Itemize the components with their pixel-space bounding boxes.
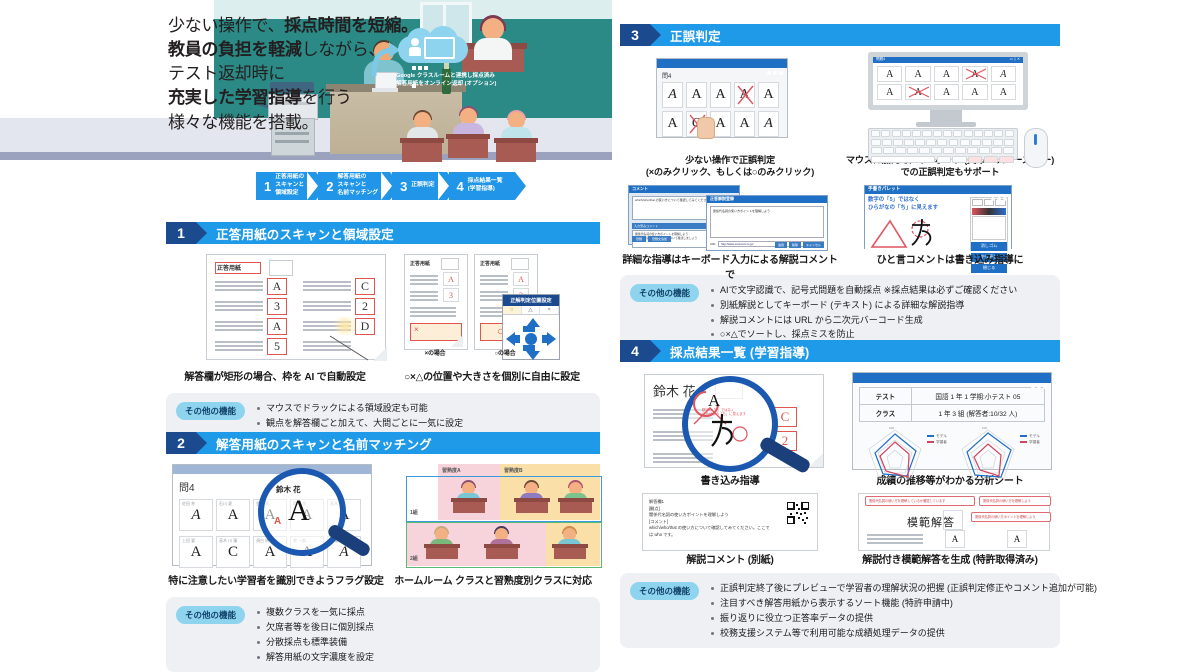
infographic-page: Google クラスルームと連携し採点済み解答用紙をオンライン返却 (オプション… — [0, 0, 1200, 630]
other-feature-item: 解説コメントには URL から二次元バーコード生成 — [709, 313, 1017, 328]
table-key: テスト — [860, 388, 912, 405]
answer-cell[interactable]: 高木 川 蓮C — [216, 536, 250, 568]
answer-sheet-x-case: 正答用紙 A 3 × — [404, 254, 468, 350]
color-swatch-row[interactable] — [972, 208, 1006, 215]
other-feature-item: 注目すべき解答用紙から表示するソート機能 (特許申請中) — [709, 596, 1097, 611]
stamp-list[interactable] — [972, 216, 1006, 240]
window-title-bar — [173, 465, 371, 474]
section-1-number: 1 — [166, 222, 196, 244]
cell-glyph: A — [1000, 69, 1006, 80]
paper-line-5: は who です。 — [649, 532, 779, 539]
radar-charts: 100 モデル 学習者 — [859, 422, 1045, 482]
answer-box: 3 — [267, 298, 287, 315]
section-3: 3 正誤判定 問4 A A A A A — [620, 24, 1060, 350]
loupe-glyph: A — [288, 494, 310, 528]
delete-button[interactable]: 削除 — [789, 242, 801, 248]
answer-cell[interactable]: 石川 夏A — [216, 499, 250, 531]
back-teacher-figure — [470, 18, 516, 70]
table-row: テスト 国語 1 年 1 学期:小テスト 05 — [860, 388, 1045, 405]
cell-name: 佐田 冬 — [182, 501, 195, 507]
judgement-cell[interactable]: A — [662, 111, 683, 137]
student-icon — [484, 526, 520, 560]
student-icon — [451, 480, 487, 514]
headline-l4b: を行う — [302, 88, 352, 107]
annotation-bubble: 関係代名詞の使い方を理解しているか確認しています — [865, 496, 975, 506]
monitor-window-title: 問題4 — [876, 57, 885, 62]
section-3-caption-left-1: 少ない操作で正誤判定 — [620, 154, 840, 166]
monitor-cell[interactable]: A — [991, 66, 1016, 82]
svg-text:100: 100 — [889, 426, 894, 430]
monitor-cell[interactable]: A — [934, 66, 959, 82]
student-icon — [514, 480, 550, 514]
panel-tab-circle[interactable]: ○ — [503, 306, 522, 314]
judgement-cell-wrong[interactable]: A — [734, 82, 755, 108]
cell-glyph: A — [668, 87, 677, 103]
palette-canvas[interactable]: 数字の「5」ではなく ひらがなの「ち」に見えます — [868, 197, 967, 251]
section-4-header: 4 採点結果一覧 (学習指導) — [620, 340, 1060, 362]
magnifier-lens: 鈴木 花 A A — [258, 468, 346, 556]
other-feature-item: 観点を解答欄ごと加えて、大問ごとに一気に設定 — [255, 416, 463, 431]
other-features-list: 複数クラスを一気に採点 欠席者等を後日に個別採点 分散採点も標準装備 解答用紙の… — [255, 605, 590, 664]
panel-title: 正解判定位置設定 — [503, 295, 559, 306]
cell-glyph: A — [943, 87, 950, 98]
handwriting-palette-window[interactable]: 手書きパレット 数字の「5」ではなく ひらがなの「ち」に見えます — [864, 185, 1012, 249]
comment-add-button[interactable]: 登録文追加 — [648, 236, 671, 242]
headline-l4a: 充実した学習指導 — [168, 88, 302, 107]
grading-window[interactable]: 問4 A A A A A A C — [656, 58, 788, 138]
student-icon — [552, 526, 588, 560]
headline-l5: 様々な機能を搭載。 — [168, 113, 318, 132]
window-title-bar: コメント — [629, 186, 739, 193]
section-1-title: 正答用紙のスキャンと領域設定 — [196, 222, 600, 244]
other-features-tag: その他の機能 — [176, 606, 245, 624]
judgement-cell[interactable]: A — [686, 82, 707, 108]
question-label: 問4 — [662, 71, 782, 80]
answer-box: A — [267, 318, 287, 335]
class-grid: 習熟度A 習熟度B 1組 2組 — [406, 464, 600, 566]
detail-window-title: 正答解説登録 — [710, 196, 734, 202]
radar-chart: 100 — [864, 426, 926, 482]
section-1-caption-left: 解答欄が矩形の場合、枠を AI で自動設定 — [166, 368, 384, 383]
monitor-row-2: A A A A A — [877, 84, 1019, 100]
paper-line-4: which/who/that の使い方について確認してみてください。ここで — [649, 525, 779, 532]
section-3-window-caption-right: ひと言コメントは書き込み指導に — [840, 251, 1060, 266]
cell-glyph: A — [886, 87, 893, 98]
mouse-illustration — [1024, 128, 1048, 168]
hero-illustration: Google クラスルームと連携し採点済み解答用紙をオンライン返却 (オプション… — [0, 0, 612, 205]
section-4-number: 4 — [620, 340, 650, 362]
loupe-note-2: ひらがなの「ち」に見えます — [702, 412, 746, 416]
palette-eraser-button[interactable]: 消しゴム — [971, 242, 1007, 251]
section-3-window-caption-left: 詳細な指導はキーボード入力による解説コメントで — [620, 251, 840, 281]
other-feature-item: 別紙解説としてキーボード (テキスト) による詳細な解説指導 — [709, 298, 1017, 313]
section-1-header: 1 正答用紙のスキャンと領域設定 — [166, 222, 600, 244]
left-column: Google クラスルームと連携し採点済み解答用紙をオンライン返却 (オプション… — [0, 0, 612, 630]
cancel-button[interactable]: キャンセル — [803, 242, 824, 248]
pointer-line — [316, 332, 370, 362]
table-key: クラス — [860, 405, 912, 422]
tool-button[interactable] — [972, 199, 983, 206]
monitor-cell[interactable]: A — [877, 66, 902, 82]
annotation-bubble: 関係代名詞の使い方を理解しよう — [979, 496, 1051, 506]
monitor-cell[interactable]: A — [991, 84, 1016, 100]
center-dot-icon[interactable] — [525, 333, 537, 345]
other-feature-item: 正誤判定終了後にプレビューで学習者の理解状況の把握 (正誤判定修正やコメント追加… — [709, 581, 1097, 596]
monitor-row-1: A A A A A — [877, 66, 1019, 82]
section-2-caption-left: 特に注意したい学習者を識別できようフラグ設定 — [166, 572, 386, 587]
cell-name: 石川 夏 — [219, 501, 232, 507]
cell-glyph: A — [715, 87, 725, 103]
window-title-bar: 手書きパレット — [865, 186, 1011, 194]
sheet-label: 正答用紙 — [217, 263, 241, 272]
apply-button[interactable]: 適用 — [775, 242, 787, 248]
explanation-comment-paper: 解答欄1 [観点] 関係代名詞の使い方ポイントを理解しよう [コメント] whi… — [642, 493, 818, 551]
handwriting-strokes — [868, 215, 964, 249]
cell-glyph: A — [764, 116, 773, 132]
judgement-cell[interactable]: A — [758, 111, 779, 137]
explanation-register-window[interactable]: 正答解説登録 関係代名詞の使い方ポイントを理解しよう URL http://ww… — [706, 195, 828, 251]
flow-step-3-label: 正誤判定 — [411, 182, 434, 190]
window-title-bar — [657, 59, 787, 68]
other-features-list: AIで文字認識で、記号式問題を自動採点 ※採点結果は必ずご確認ください 別紙解説… — [709, 283, 1017, 342]
cell-name: 高木 川 蓮 — [219, 538, 237, 544]
other-feature-item: 複数クラスを一気に採点 — [255, 605, 436, 620]
annotation-bubble: 関係代名詞の使い方ポイントを理解しよう — [971, 512, 1051, 522]
other-features-tag: その他の機能 — [176, 402, 245, 420]
cell-glyph: A — [715, 116, 725, 132]
other-feature-item: 欠席者等を後日に個別採点 — [255, 620, 436, 635]
legend-item: 学習者 — [927, 440, 947, 446]
section-3-number: 3 — [620, 24, 650, 46]
arrow-right-icon[interactable] — [547, 332, 556, 346]
hero-headline: 少ない操作で、採点時間を短縮。 教員の負担を軽減しながら、 テスト返却時に 充実… — [168, 14, 418, 135]
section-2-title: 解答用紙のスキャンと名前マッチング — [196, 432, 600, 454]
panel-tabs[interactable]: ○ △ × — [503, 306, 559, 315]
loupe-content: A — [688, 382, 760, 454]
window-title-bar — [853, 373, 1051, 383]
section-3-other-features: その他の機能 AIで文字認識で、記号式問題を自動採点 ※採点結果は必ずご確認くだ… — [620, 275, 1060, 350]
flow-step-2-label: 解答用紙の スキャンと 名前マッチング — [337, 174, 378, 197]
section-4-title: 採点結果一覧 (学習指導) — [650, 340, 1060, 362]
flow-step-1-label: 正答用紙の スキャンと 領域設定 — [275, 174, 304, 197]
student-icon — [424, 526, 460, 560]
cell-glyph: A — [943, 69, 950, 80]
judgement-row-1: A A A A A — [662, 82, 782, 108]
flow-step-2-number: 2 — [326, 179, 333, 194]
desktop-monitor: 問題4 ▭ ▯ ✕ A A A A A — [868, 52, 1028, 110]
monitor-screen: 問題4 ▭ ▯ ✕ A A A A A — [868, 52, 1028, 110]
other-features-tag: その他の機能 — [630, 582, 699, 600]
keyboard-illustration — [868, 128, 1018, 160]
panel-tab-cross[interactable]: × — [540, 306, 559, 314]
cross-mark-icon — [735, 83, 756, 107]
cursor-hand-icon — [697, 117, 715, 139]
section-1: 1 正答用紙のスキャンと領域設定 正答用紙 A — [166, 222, 600, 439]
answer-box: C — [355, 278, 375, 295]
section-2: 2 解答用紙のスキャンと名前マッチング 問4 佐田 冬A 石川 夏A 金井 咲A… — [166, 432, 600, 672]
loupe-mark: A — [274, 516, 281, 527]
flow-step-3-number: 3 — [400, 179, 407, 194]
comment-register-button[interactable]: 登録 — [632, 236, 646, 242]
right-column: 3 正誤判定 問4 A A A A A — [612, 0, 1200, 630]
process-flow: 1 正答用紙の スキャンと 領域設定 2 解答用紙の スキャンと 名前マッチング… — [256, 172, 517, 200]
case-o-caption: ○の場合 — [474, 348, 536, 357]
table-row: クラス 1 年 3 組 (解答者:10/32 人) — [860, 405, 1045, 422]
answer-box: 2 — [355, 298, 375, 315]
section-4-paper-caption-right: 解説付き模範解答を生成 (特許取得済み) — [840, 551, 1060, 566]
legend-label: 学習者 — [936, 440, 947, 444]
palette-text-line-2: ひらがなの「ち」に見えます — [868, 205, 967, 213]
magnifier-lens: A 数字の「5」ではなく ひらがなの「ち」に見えます — [682, 376, 778, 472]
other-feature-item: AIで文字認識で、記号式問題を自動採点 ※採点結果は必ずご確認ください — [709, 283, 1017, 298]
section-3-header: 3 正誤判定 — [620, 24, 1060, 46]
student-icon — [558, 480, 594, 514]
answer-box: A — [267, 278, 287, 295]
section-2-number: 2 — [166, 432, 196, 454]
qr-code-icon — [787, 502, 809, 524]
radar-legend: モデル 学習者 — [1020, 434, 1040, 446]
answer-box: 5 — [267, 338, 287, 355]
monitor-title-bar: 問題4 ▭ ▯ ✕ — [873, 57, 1023, 63]
window-title-bar: 正答解説登録 — [707, 196, 827, 203]
legend-label: モデル — [1029, 434, 1040, 438]
other-features-tag: その他の機能 — [630, 284, 699, 302]
judgement-row-2: A C A A A — [662, 111, 782, 137]
svg-text:100: 100 — [982, 426, 987, 430]
judgement-cell[interactable]: A — [662, 82, 683, 108]
case-x-caption: ×の場合 — [404, 348, 466, 357]
class-1-label: 1組 — [410, 509, 418, 516]
cell-glyph: A — [667, 116, 677, 132]
legend-label: モデル — [936, 434, 947, 438]
headline-l2a: 教員の負担を軽減 — [168, 40, 302, 59]
section-4-caption-left: 書き込み指導 — [620, 472, 840, 487]
section-3-caption-left-2: (×のみクリック、もしくは○のみクリック) — [620, 166, 840, 178]
cell-glyph: A — [191, 544, 202, 561]
headline-l3: テスト返却時に — [168, 64, 285, 83]
group-b-label: 習熟度B — [504, 467, 523, 474]
other-feature-item: 分散採点も標準装備 — [255, 635, 436, 650]
sheet-label: 正答用紙 — [480, 260, 500, 267]
monitor-cell[interactable]: A — [905, 66, 930, 82]
cross-mark-icon — [963, 67, 989, 81]
cell-glyph: A — [191, 507, 200, 524]
cross-mark-icon — [906, 85, 932, 99]
analysis-sheet-window[interactable]: テスト 国語 1 年 1 学期:小テスト 05 クラス 1 年 3 組 (解答者… — [852, 372, 1052, 470]
section-3-title: 正誤判定 — [650, 24, 1060, 46]
flow-step-4[interactable]: 4 採点結果一覧 (学習指導) — [449, 172, 515, 200]
group-a-label: 習熟度A — [442, 467, 461, 474]
cell-name: 上田 要 — [182, 538, 195, 544]
cell-glyph: C — [228, 544, 238, 561]
panel-tab-triangle[interactable]: △ — [522, 306, 541, 314]
section-4: 4 採点結果一覧 (学習指導) 鈴木 花 C 2 — [620, 340, 1060, 648]
palette-title: 手書きパレット — [868, 186, 900, 192]
monitor-cell[interactable]: A — [962, 84, 987, 100]
analysis-table: テスト 国語 1 年 1 学期:小テスト 05 クラス 1 年 3 組 (解答者… — [859, 387, 1045, 422]
answer-cell[interactable]: 佐田 冬A — [179, 499, 213, 531]
cell-glyph: A — [1000, 87, 1007, 98]
legend-label: 学習者 — [1029, 440, 1040, 444]
cell-glyph: A — [228, 507, 239, 524]
cell-glyph: A — [886, 69, 893, 80]
flow-step-4-label: 採点結果一覧 (学習指導) — [468, 178, 503, 194]
table-value: 1 年 3 組 (解答者:10/32 人) — [911, 405, 1044, 422]
monitor-cell[interactable]: A — [934, 84, 959, 100]
table-value: 国語 1 年 1 学期:小テスト 05 — [911, 388, 1044, 405]
headline-l2b: しながら、 — [302, 40, 386, 59]
class-2-label: 2組 — [410, 555, 418, 562]
other-features-list: マウスでドラックによる領域設定も可能 観点を解答欄ごと加えて、大問ごとに一気に設… — [255, 401, 463, 431]
other-feature-item: 校務支援システム等で利用可能な成績処理データの提供 — [709, 626, 1097, 641]
monitor-cell[interactable]: A — [877, 84, 902, 100]
answer-cell[interactable]: 上田 要A — [179, 536, 213, 568]
judgement-cell[interactable]: A — [734, 111, 755, 137]
flow-step-1-number: 1 — [264, 179, 271, 194]
comment-window-title: コメント — [632, 186, 648, 192]
legend-item: 学習者 — [1020, 440, 1040, 446]
section-3-caption-right-2: での正誤判定もサポート — [840, 166, 1060, 178]
monitor-cell-wrong[interactable]: A — [962, 66, 987, 82]
section-2-caption-right: ホームルーム クラスと習熟度別クラスに対応 — [386, 572, 600, 587]
headline-l1b: 採点時間を短縮。 — [284, 16, 418, 35]
url-label: URL — [710, 242, 716, 246]
cell-glyph: A — [914, 69, 921, 80]
cell-glyph: A — [691, 87, 701, 103]
radar-chart: 100 — [957, 426, 1019, 482]
radar-legend: モデル 学習者 — [927, 434, 947, 446]
judgement-cell[interactable]: A — [710, 82, 731, 108]
other-feature-item: 振り返りに役立つ正答率データの提供 — [709, 611, 1097, 626]
section-2-header: 2 解答用紙のスキャンと名前マッチング — [166, 432, 600, 454]
cell-glyph: A — [763, 87, 773, 103]
headline-l1a: 少ない操作で、 — [168, 16, 284, 35]
section-4-other-features: その他の機能 正誤判定終了後にプレビューで学習者の理解状況の把握 (正誤判定修正… — [620, 573, 1060, 648]
judgement-cell[interactable]: A — [758, 82, 779, 108]
cell-glyph: A — [971, 87, 978, 98]
section-1-caption-right: ○×△の位置や大きさを個別に自由に設定 — [384, 368, 600, 383]
flow-step-2[interactable]: 2 解答用紙の スキャンと 名前マッチング — [318, 172, 390, 200]
monitor-cell-wrong[interactable]: A — [905, 84, 930, 100]
cell-glyph: A — [739, 116, 749, 132]
palette-text-line-1: 数字の「5」ではなく — [868, 197, 967, 205]
section-2-other-features: その他の機能 複数クラスを一気に採点 欠席者等を後日に個別採点 分散採点も標準装… — [166, 597, 600, 672]
other-feature-item: 解答用紙の文字濃度を設定 — [255, 650, 436, 665]
other-features-list: 正誤判定終了後にプレビューで学習者の理解状況の把握 (正誤判定修正やコメント追加… — [709, 581, 1097, 640]
flow-step-4-number: 4 — [457, 179, 464, 194]
section-4-paper-caption-left: 解説コメント (別紙) — [620, 551, 840, 566]
model-answer-paper: 模範解答 A A 関係代名詞の使い方を理解しているか確認しています 関係代名詞の… — [858, 493, 1050, 551]
other-feature-item: マウスでドラックによる領域設定も可能 — [255, 401, 463, 416]
sheet-label: 正答用紙 — [410, 260, 430, 267]
